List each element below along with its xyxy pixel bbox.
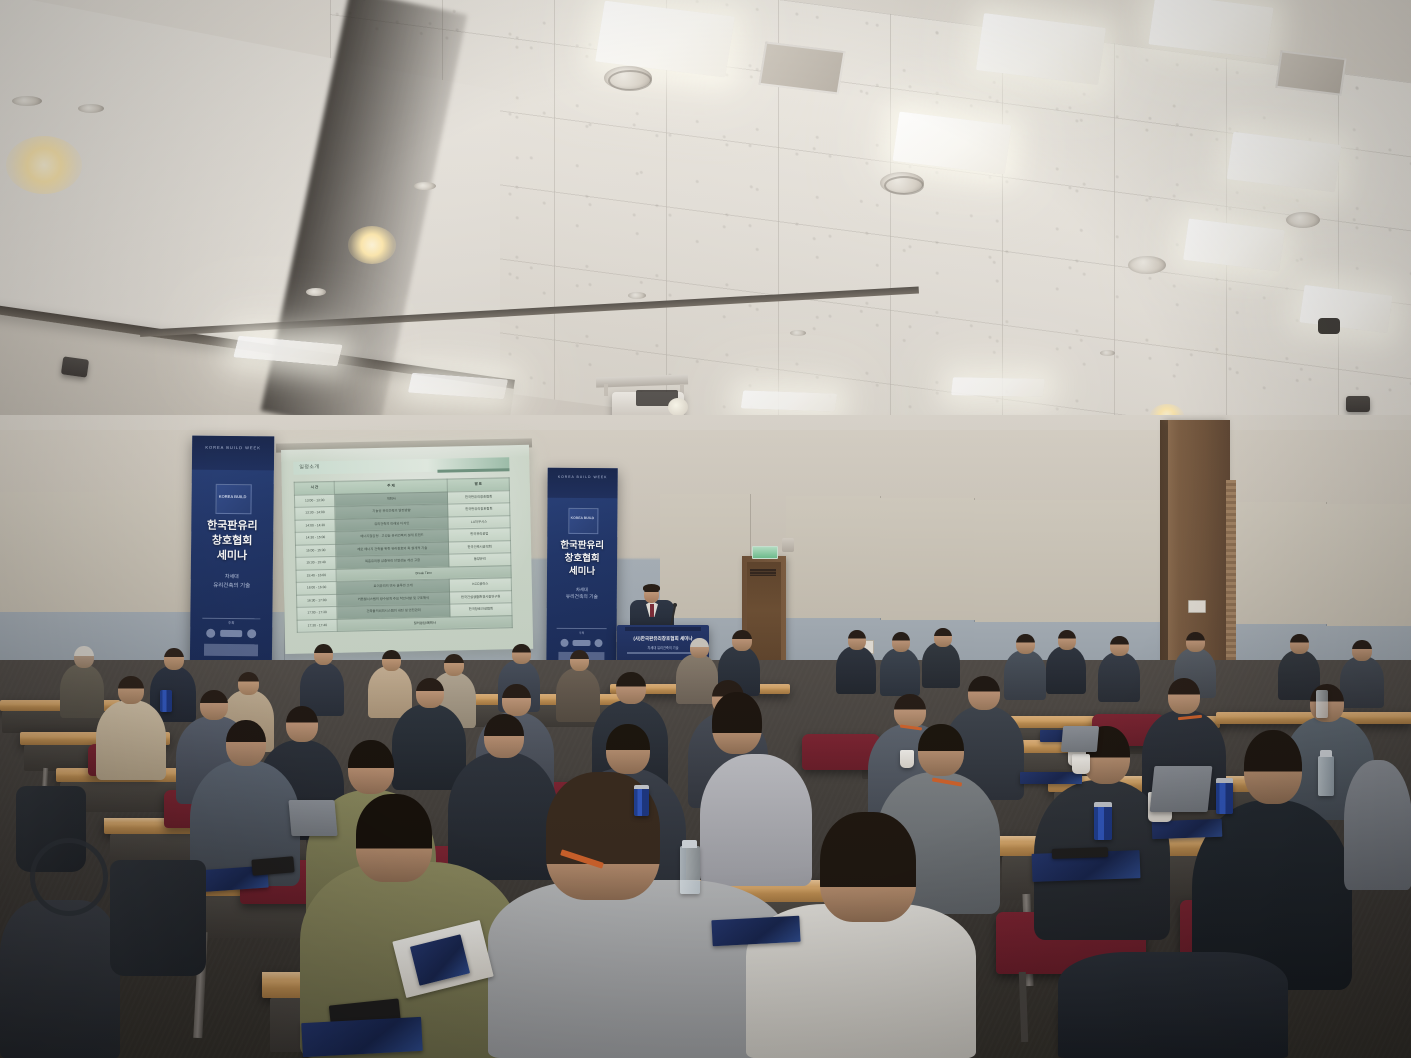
water-bottle[interactable]	[1318, 756, 1334, 796]
attendee-foreground	[0, 900, 120, 1058]
attendee-head	[238, 672, 259, 695]
attendee-head	[1352, 640, 1372, 661]
seminar-booklet[interactable]	[1020, 772, 1082, 784]
presenter-tie	[650, 604, 654, 617]
attendee-head	[444, 654, 464, 676]
banner-title-line3: 세미나	[191, 550, 273, 564]
attendee	[1344, 760, 1411, 890]
banner-subtitle-line1: 차세대	[547, 587, 617, 593]
attendee-head	[382, 650, 401, 671]
attendee	[880, 648, 920, 696]
bottle-cap	[682, 840, 697, 848]
schedule-cell-time: 16:30 - 17:00	[297, 594, 338, 607]
attendee-head	[820, 812, 916, 922]
attendee-head	[894, 694, 926, 728]
banner-title-line2: 창호협회	[547, 553, 617, 565]
ceiling-sprinkler	[78, 104, 104, 113]
attendee-head	[732, 630, 752, 651]
attendee	[556, 668, 600, 722]
wall-speaker	[782, 538, 794, 552]
ceiling-sprinkler	[12, 96, 42, 106]
acoustic-panel	[0, 492, 97, 614]
schedule-cell-topic: 질의응답/폐회사	[337, 615, 512, 631]
laptop[interactable]	[1150, 766, 1213, 812]
slide-content: 일정소개 시 간 주 제 발 표 13:00 - 13:30개회사한국판유리창호…	[289, 451, 525, 648]
ceiling-speaker-recess	[1286, 212, 1320, 228]
banner-top-strip	[548, 468, 618, 498]
attendee-foreground	[1058, 952, 1288, 1058]
attendee-head	[848, 630, 866, 650]
coffee-can[interactable]	[160, 690, 172, 712]
podium-top-strip	[625, 627, 701, 631]
attendee-head	[118, 676, 144, 704]
ceiling-sprinkler	[628, 292, 646, 299]
attendee-head	[348, 740, 394, 794]
attendee	[60, 664, 104, 718]
attendee-head	[416, 678, 444, 708]
attendee-head	[502, 684, 531, 716]
attendee-foreground	[488, 880, 788, 1058]
attendee	[1004, 650, 1046, 700]
schedule-cell-time: 13:30 - 14:00	[295, 506, 336, 519]
ceiling-led-panel	[741, 390, 838, 411]
banner-organizer-label: 주최	[547, 631, 617, 635]
acoustic-panel	[1326, 504, 1411, 628]
attendee	[1046, 646, 1086, 694]
schedule-cell-time: 14:00 - 14:30	[295, 519, 336, 532]
attendee-head	[314, 644, 333, 665]
smartphone[interactable]	[1052, 847, 1108, 859]
banner-divider	[557, 628, 607, 629]
organizer-logo-icon	[595, 639, 603, 647]
attendee	[96, 700, 166, 780]
schedule-cell-time: 16:00 - 16:30	[296, 581, 337, 594]
paper-cup[interactable]	[900, 750, 914, 768]
acoustic-panel	[880, 498, 975, 622]
attendee	[368, 666, 412, 718]
banner-subtitle-line2: 유리건축의 기술	[191, 583, 273, 591]
banner-divider	[202, 618, 260, 620]
attendee-head	[1244, 730, 1302, 804]
wheelchair-wheel	[30, 838, 108, 916]
banner-organizer-label: 주최	[190, 621, 272, 627]
slide-title: 일정소개	[299, 463, 319, 470]
banner-logo	[568, 508, 598, 534]
attendee-head	[1290, 634, 1309, 654]
ceiling-air-vent	[1275, 50, 1346, 95]
attendee-head	[934, 628, 952, 647]
ceiling-sprinkler	[306, 288, 326, 296]
podium-logo-strip	[627, 652, 699, 654]
ceiling-sprinkler	[790, 330, 806, 336]
banner-organizer-logos	[190, 628, 272, 639]
organizer-logo-icon	[206, 628, 215, 637]
acoustic-panel	[1068, 500, 1161, 624]
organizer-logo-icon	[560, 638, 568, 646]
can-lid	[1094, 802, 1112, 807]
schedule-cell-time: 13:00 - 13:30	[294, 494, 335, 507]
attendee-head	[606, 724, 650, 774]
schedule-cell-time: 14:30 - 15:00	[295, 531, 336, 544]
schedule-cell-time: 17:00 - 17:30	[297, 606, 338, 619]
coffee-can[interactable]	[634, 788, 649, 816]
ceiling-sprinkler	[414, 182, 436, 190]
banner-logo-text: KOREA BUILD	[547, 516, 617, 520]
can-lid	[1216, 778, 1233, 783]
banner-left: KOREA BUILD WEEK KOREA BUILD 한국판유리 창호협회 …	[190, 436, 275, 677]
attendee-head	[968, 676, 1000, 710]
banner-organizer-logos	[546, 638, 616, 647]
coffee-can[interactable]	[1094, 806, 1112, 840]
attendee-head	[164, 648, 184, 670]
bottle-cap	[1320, 750, 1332, 757]
banner-title-line3: 세미나	[547, 566, 617, 578]
notebook[interactable]	[301, 1017, 423, 1057]
banner-subtitle-line2: 유리건축의 기술	[547, 595, 617, 602]
door-vent	[750, 569, 776, 576]
projector-arm	[604, 384, 608, 396]
paper-cup[interactable]	[1072, 754, 1090, 774]
slide-title-underline	[437, 468, 509, 473]
coffee-can[interactable]	[1216, 782, 1233, 814]
attendee-head	[356, 794, 432, 882]
attendee-head	[892, 632, 910, 652]
attendee	[1340, 656, 1384, 708]
schedule-cell-time: 15:40 - 16:00	[296, 569, 337, 582]
slide-title-bar	[293, 457, 509, 475]
projection-screen: 일정소개 시 간 주 제 발 표 13:00 - 13:30개회사한국판유리창호…	[281, 445, 533, 654]
backpack[interactable]	[110, 860, 206, 976]
attendee-head	[1058, 630, 1076, 650]
banner-right: KOREA BUILD WEEK KOREA BUILD 한국판유리 창호협회 …	[546, 468, 617, 680]
laptop[interactable]	[1061, 726, 1099, 752]
schedule-cell-time: 17:30 - 17:40	[297, 619, 338, 632]
acoustic-panel	[974, 500, 1069, 624]
ceiling-speaker-ring	[608, 70, 652, 91]
attendee-head	[570, 650, 589, 671]
ceiling-led-panel	[951, 377, 1045, 397]
organizer-logo-icon	[247, 629, 256, 638]
schedule-cell-time: 15:30 - 15:40	[296, 556, 337, 569]
attendee-head	[1186, 632, 1205, 652]
attendee-head	[286, 706, 318, 742]
presenter-hair	[643, 584, 660, 592]
attendee	[448, 752, 558, 880]
attendee	[392, 704, 466, 790]
attendee-head	[74, 646, 94, 668]
schedule-cell-time: 15:00 - 15:30	[295, 544, 336, 557]
attendee-head	[484, 714, 524, 758]
banner-title-line1: 한국판유리	[191, 520, 273, 534]
attendee-head	[690, 638, 709, 658]
light-switch[interactable]	[1188, 600, 1206, 613]
attendee-head	[1016, 634, 1035, 654]
acoustic-panel	[660, 494, 751, 620]
attendee-head	[1168, 678, 1200, 714]
banner-subtitle-line1: 차세대	[191, 574, 273, 581]
banner-host-plate	[204, 644, 258, 657]
ceiling-downlight	[6, 136, 82, 194]
organizer-logo-icon	[220, 629, 242, 636]
ceiling-mount-box	[1346, 396, 1370, 412]
ceiling-speaker-ring	[884, 176, 924, 195]
attendee-head	[712, 692, 762, 754]
organizer-logo-icon	[573, 639, 591, 645]
projector-lens	[668, 398, 688, 416]
banner-logo-text: KOREA BUILD	[192, 494, 274, 500]
seminar-hall-photo: 일정소개 시 간 주 제 발 표 13:00 - 13:30개회사한국판유리창호…	[0, 0, 1411, 1058]
ceiling-mount-box	[61, 356, 89, 377]
col-header-time: 시 간	[294, 481, 335, 494]
attendee-head	[616, 672, 646, 704]
attendee	[700, 754, 812, 886]
attendee-head	[1110, 636, 1129, 656]
attendee	[1098, 652, 1140, 702]
ceiling-camera	[1318, 318, 1340, 334]
acoustic-panel	[786, 496, 881, 620]
water-bottle[interactable]	[680, 846, 700, 894]
wall-column-trim	[1226, 480, 1236, 685]
seminar-booklet[interactable]	[711, 916, 800, 947]
attendee	[836, 646, 876, 694]
attendee-head	[918, 724, 964, 776]
banner-kbw-label: KOREA BUILD WEEK	[548, 475, 618, 479]
ceiling-speaker-recess	[1128, 256, 1166, 274]
attendee	[922, 642, 960, 688]
can-lid	[634, 785, 649, 789]
banner-top-strip	[192, 436, 274, 470]
banner-title-line1: 한국판유리	[547, 540, 617, 552]
attendee-head	[226, 720, 266, 766]
attendee-head	[200, 690, 228, 720]
ceiling-downlight	[348, 226, 396, 264]
schedule-table: 시 간 주 제 발 표 13:00 - 13:30개회사한국판유리창호협회13:…	[294, 477, 513, 632]
water-bottle[interactable]	[1316, 690, 1328, 718]
ceiling-sprinkler	[1100, 350, 1115, 356]
exit-sign-icon	[752, 546, 778, 559]
laptop[interactable]	[288, 800, 337, 836]
banner-title-line2: 창호협회	[191, 535, 273, 549]
microphone-head	[673, 603, 677, 607]
schedule-table-body: 13:00 - 13:30개회사한국판유리창호협회13:30 - 14:00기능…	[294, 490, 512, 632]
banner-kbw-label: KOREA BUILD WEEK	[192, 445, 274, 451]
attendee-head	[512, 644, 531, 664]
acoustic-panel	[1236, 502, 1327, 626]
acoustic-panel	[96, 490, 193, 614]
